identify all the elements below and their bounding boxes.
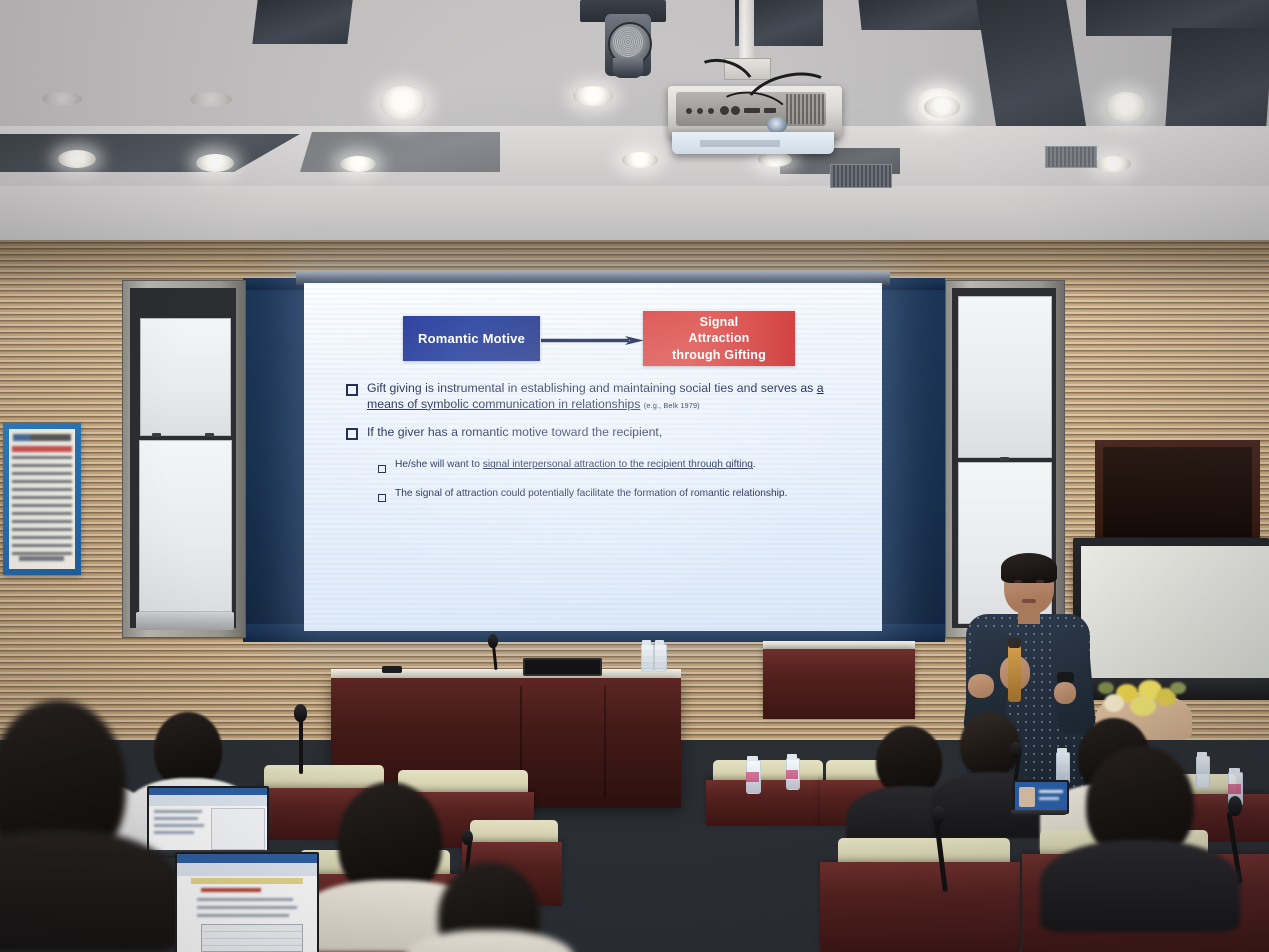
- bullet-item: If the giver has a romantic motive towar…: [346, 425, 846, 445]
- sub-bullet-item: He/she will want to signal interpersonal…: [378, 458, 846, 478]
- bottle-cap: [1229, 768, 1240, 773]
- ceiling-downlight: [58, 150, 96, 168]
- bullet-text-a: Gift giving is instrumental in establish…: [367, 381, 817, 395]
- whiteboard-large[interactable]: [1081, 546, 1269, 678]
- projection-screen[interactable]: Romantic Motive Signal Attraction throug…: [304, 283, 882, 631]
- presenter-mouth: [1022, 599, 1036, 603]
- flow-arrow-icon: [541, 336, 644, 345]
- document-text-line: [197, 898, 293, 901]
- ceiling-vent: [830, 164, 892, 188]
- water-bottle: [654, 644, 667, 672]
- sub-bullet-text-a: He/she will want to: [395, 459, 483, 470]
- flower-petal: [1104, 694, 1124, 712]
- ceiling-downlight: [190, 92, 232, 107]
- water-bottle: [641, 644, 654, 672]
- bullet-text: Gift giving is instrumental in establish…: [367, 381, 846, 412]
- lecture-hall-photo: Romantic Motive Signal Attraction throug…: [0, 0, 1269, 952]
- document-titlebar: [177, 854, 317, 863]
- bullet-citation: (e.g., Belk 1979): [644, 401, 700, 410]
- ceiling-downlight: [42, 92, 82, 106]
- desk-microphone-head: [462, 830, 473, 845]
- whiteboard-clip: [152, 433, 161, 437]
- audience-desk: [820, 862, 1020, 952]
- bullet-square-icon: [346, 427, 358, 445]
- document-text-line: [154, 810, 202, 813]
- ceiling-downlight: [380, 86, 426, 120]
- bottle-label: [1228, 784, 1241, 794]
- navy-screen-surround: [879, 278, 945, 636]
- podium-monitor[interactable]: [523, 658, 602, 676]
- bottle-cap: [787, 754, 797, 759]
- presenter-left-hand: [968, 674, 994, 698]
- whiteboard-tray: [136, 612, 234, 630]
- audience-desk: [706, 780, 826, 826]
- laptop-screen: [147, 786, 269, 854]
- bullet-item: Gift giving is instrumental in establish…: [346, 381, 846, 412]
- handheld-microphone[interactable]: [1008, 644, 1021, 702]
- flower-leaf: [1098, 682, 1114, 694]
- sub-bullet-square-icon: [378, 489, 386, 507]
- slide-surface: Romantic Motive Signal Attraction throug…: [304, 283, 882, 631]
- ceiling-downlight: [758, 152, 792, 167]
- sub-bullet-square-icon: [378, 460, 386, 478]
- ceiling-downlight: [573, 86, 613, 106]
- poster-title: [12, 446, 72, 452]
- sub-bullet-list: He/she will want to signal interpersonal…: [378, 458, 846, 507]
- whiteboard-left[interactable]: [139, 440, 232, 612]
- flower-leaf: [1170, 682, 1186, 694]
- whiteboard-left[interactable]: [140, 318, 231, 436]
- audience-laptop[interactable]: [147, 786, 271, 860]
- whiteboard-clip: [205, 433, 214, 437]
- box-red-line-3: through Gifting: [672, 347, 766, 364]
- ceiling-vent: [1045, 146, 1097, 168]
- laptop-screen: [175, 852, 319, 952]
- wall-poster: [3, 423, 81, 575]
- document-toolbar: [149, 795, 267, 806]
- bottle-cap: [655, 640, 664, 645]
- chair-back: [713, 760, 823, 782]
- poster-signature: [19, 556, 64, 561]
- ceiling-downlight: [1105, 92, 1147, 122]
- sub-bullet-text: He/she will want to signal interpersonal…: [395, 458, 756, 478]
- document-text-line: [154, 831, 194, 834]
- podium-panel-seam: [604, 686, 606, 798]
- projector-port: [708, 108, 714, 114]
- poster-body: [12, 456, 72, 559]
- microphone-head-icon: [1008, 638, 1021, 648]
- document-titlebar: [149, 788, 267, 795]
- water-bottle: [1196, 756, 1210, 788]
- coffered-ceiling: [0, 0, 1269, 245]
- bottle-cap: [1197, 752, 1207, 757]
- poster-header: [13, 434, 71, 441]
- sub-bullet-item: The signal of attraction could potential…: [378, 487, 846, 507]
- sub-bullet-text-a: The signal of attraction could potential…: [395, 488, 787, 499]
- navy-screen-surround: [243, 278, 307, 636]
- document-text-line: [154, 824, 204, 827]
- projector-port: [697, 108, 703, 114]
- bottle-label: [786, 770, 798, 779]
- bullet-text-a: If the giver has a romantic motive towar…: [367, 425, 662, 439]
- bottle-cap: [747, 756, 758, 761]
- sub-bullet-underlined: signal interpersonal attraction to the r…: [483, 459, 753, 470]
- slide-bullet-list: Gift giving is instrumental in establish…: [346, 381, 846, 516]
- projector-label: [700, 140, 780, 147]
- bullet-text: If the giver has a romantic motive towar…: [367, 425, 662, 445]
- presenter-hand: [1054, 682, 1076, 704]
- document-text-line: [197, 914, 289, 917]
- laptop-screen-text: [1039, 797, 1059, 800]
- diagram-box-romantic-motive: Romantic Motive: [403, 316, 540, 361]
- audience-shoulders: [1040, 840, 1240, 932]
- presenter-eye: [1036, 580, 1044, 583]
- bottle-cap: [642, 640, 651, 645]
- diagram-box-signal-attraction: Signal Attraction through Gifting: [643, 311, 795, 366]
- box-red-line-2: Attraction: [672, 330, 766, 347]
- document-page: [211, 808, 265, 850]
- wall-alcove-inner: [1103, 447, 1252, 537]
- flower-petal: [1130, 696, 1156, 716]
- document-table: [201, 924, 303, 952]
- ceiling-downlight: [1095, 156, 1131, 172]
- laptop-base: [1011, 810, 1067, 815]
- podium-microphone-head: [488, 634, 498, 648]
- ceiling-downlight: [340, 156, 376, 172]
- whiteboard-right[interactable]: [958, 296, 1052, 458]
- box-red-line-1: Signal: [672, 314, 766, 331]
- ceiling-downlight: [196, 154, 234, 172]
- audience-laptop-foreground[interactable]: [175, 852, 321, 952]
- laptop-screen-text: [1039, 790, 1063, 793]
- camera-mesh: [613, 27, 643, 57]
- podium-device: [382, 666, 402, 673]
- ceiling-downlight: [924, 96, 960, 118]
- projector-pole: [739, 0, 754, 62]
- desk-microphone-head: [294, 704, 307, 722]
- projector-port: [686, 108, 692, 114]
- bullet-square-icon: [346, 383, 358, 412]
- document-text-line: [154, 817, 198, 820]
- audience-laptop-right[interactable]: [1013, 780, 1069, 816]
- desk-microphone-head: [1010, 742, 1022, 758]
- ceiling-downlight: [622, 152, 658, 168]
- whiteboard-clip: [1000, 457, 1009, 461]
- desk-microphone-head: [932, 806, 945, 824]
- bottle-label: [746, 772, 759, 782]
- audience-head: [154, 712, 222, 788]
- laptop-screen-photo: [1019, 787, 1035, 807]
- bottle-cap: [1057, 748, 1067, 753]
- presenter-hair: [1001, 553, 1057, 583]
- sub-bullet-text-b: .: [753, 459, 756, 470]
- document-heading: [201, 888, 261, 892]
- camera-base: [613, 58, 643, 78]
- document-text-line: [197, 906, 297, 909]
- box-blue-label: Romantic Motive: [418, 331, 525, 346]
- document-toolbar: [177, 863, 317, 876]
- laptop-screen: [1013, 780, 1069, 814]
- presenter-eye: [1014, 580, 1022, 583]
- document-highlight: [191, 878, 303, 884]
- sub-bullet-text: The signal of attraction could potential…: [395, 487, 787, 507]
